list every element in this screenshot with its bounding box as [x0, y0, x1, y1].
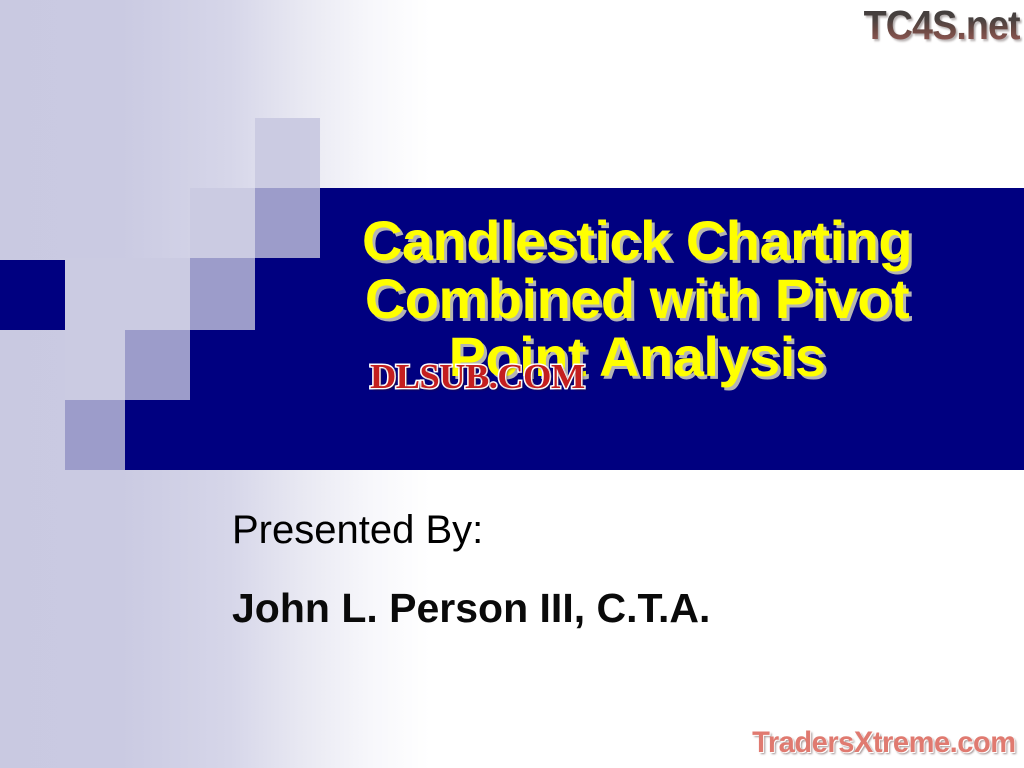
decorative-square-light-2	[190, 188, 255, 258]
presenter-name: John L. Person III, C.T.A.	[232, 578, 992, 638]
presentation-slide: Candlestick Charting Combined with Pivot…	[0, 0, 1024, 768]
decorative-square-mid-1	[255, 188, 320, 258]
title-banner-step-2	[255, 258, 1024, 330]
watermark-dlsub: DLSUB.COM	[370, 358, 585, 396]
slide-subtitle: Presented By: John L. Person III, C.T.A.	[232, 504, 992, 638]
title-banner-step-1	[320, 188, 1024, 258]
title-banner-step-4	[125, 400, 1024, 470]
decorative-square-navy-1	[0, 260, 65, 330]
decorative-square-mid-2	[190, 258, 255, 330]
decorative-square-light-4	[60, 258, 125, 330]
decorative-square-light-3	[125, 258, 190, 330]
decorative-square-mid-3	[125, 330, 190, 400]
presented-by-label: Presented By:	[232, 504, 992, 556]
watermark-tradersxtreme: TradersXtreme.com	[753, 726, 1016, 760]
title-banner-step-3	[190, 330, 1024, 400]
decorative-square-light-5	[65, 330, 125, 400]
decorative-square-mid-4	[65, 400, 125, 470]
watermark-tc4s: TC4S.net	[864, 2, 1020, 48]
decorative-square-light-1	[255, 118, 320, 188]
